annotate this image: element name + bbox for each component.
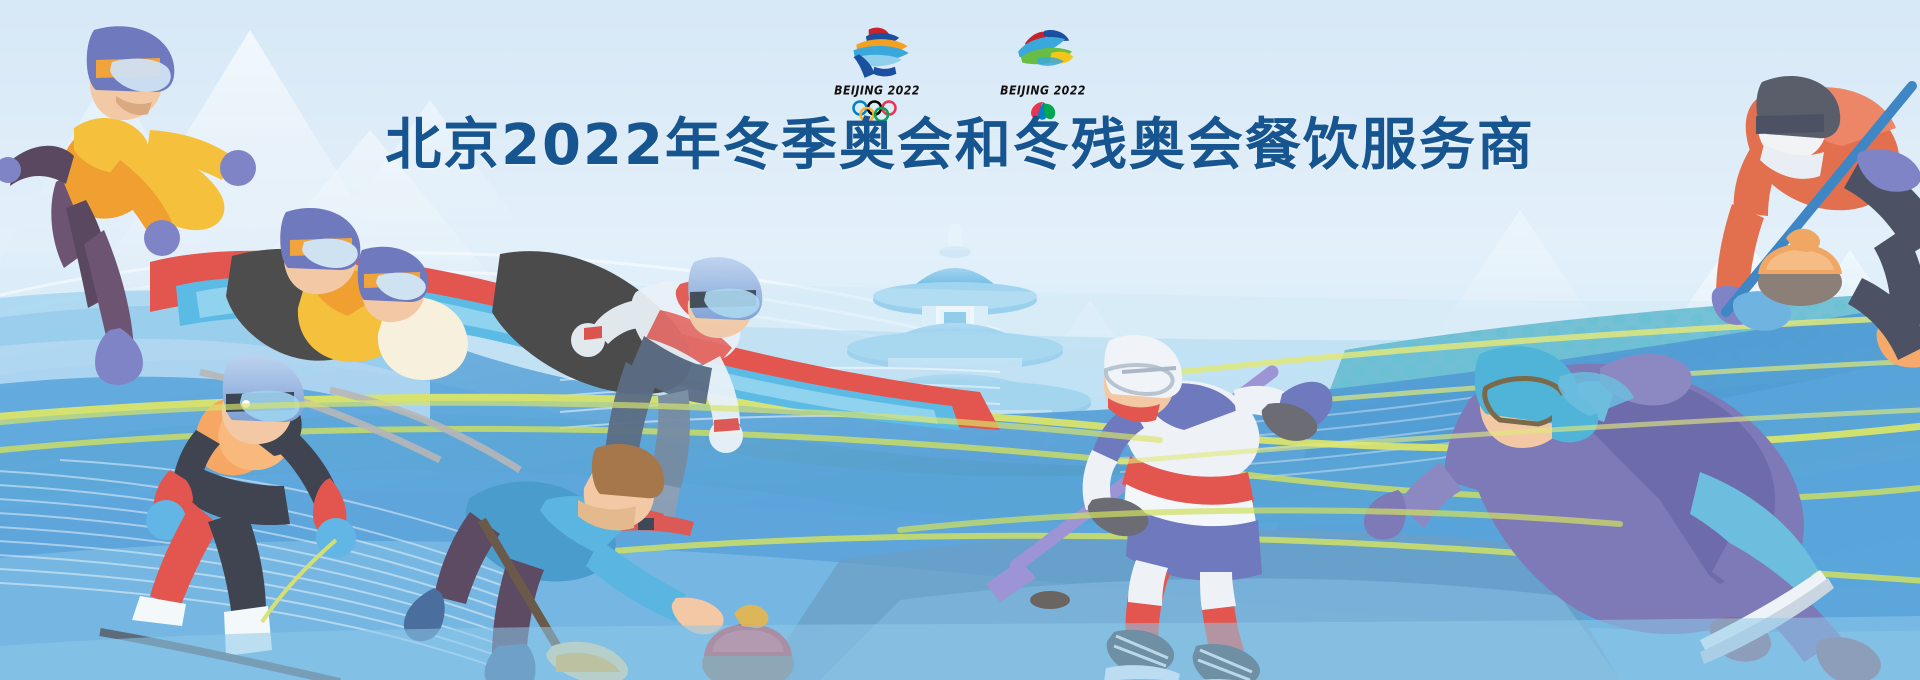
olympic-emblem: BEIJING 2022 xyxy=(823,24,931,122)
paralympic-wordmark: BEIJING 2022 xyxy=(1000,83,1086,98)
olympic-banner: BEIJING 2022 BEIJING 20 xyxy=(0,0,1920,680)
olympic-wordmark: BEIJING 2022 xyxy=(834,83,920,98)
olympic-emblem-mark xyxy=(835,24,919,82)
emblem-group: BEIJING 2022 BEIJING 20 xyxy=(0,24,1920,122)
paralympic-emblem: BEIJING 2022 xyxy=(989,24,1097,122)
paralympic-emblem-mark xyxy=(1001,24,1085,82)
page-title: 北京2022年冬季奥会和冬残奥会餐饮服务商 xyxy=(0,118,1920,174)
